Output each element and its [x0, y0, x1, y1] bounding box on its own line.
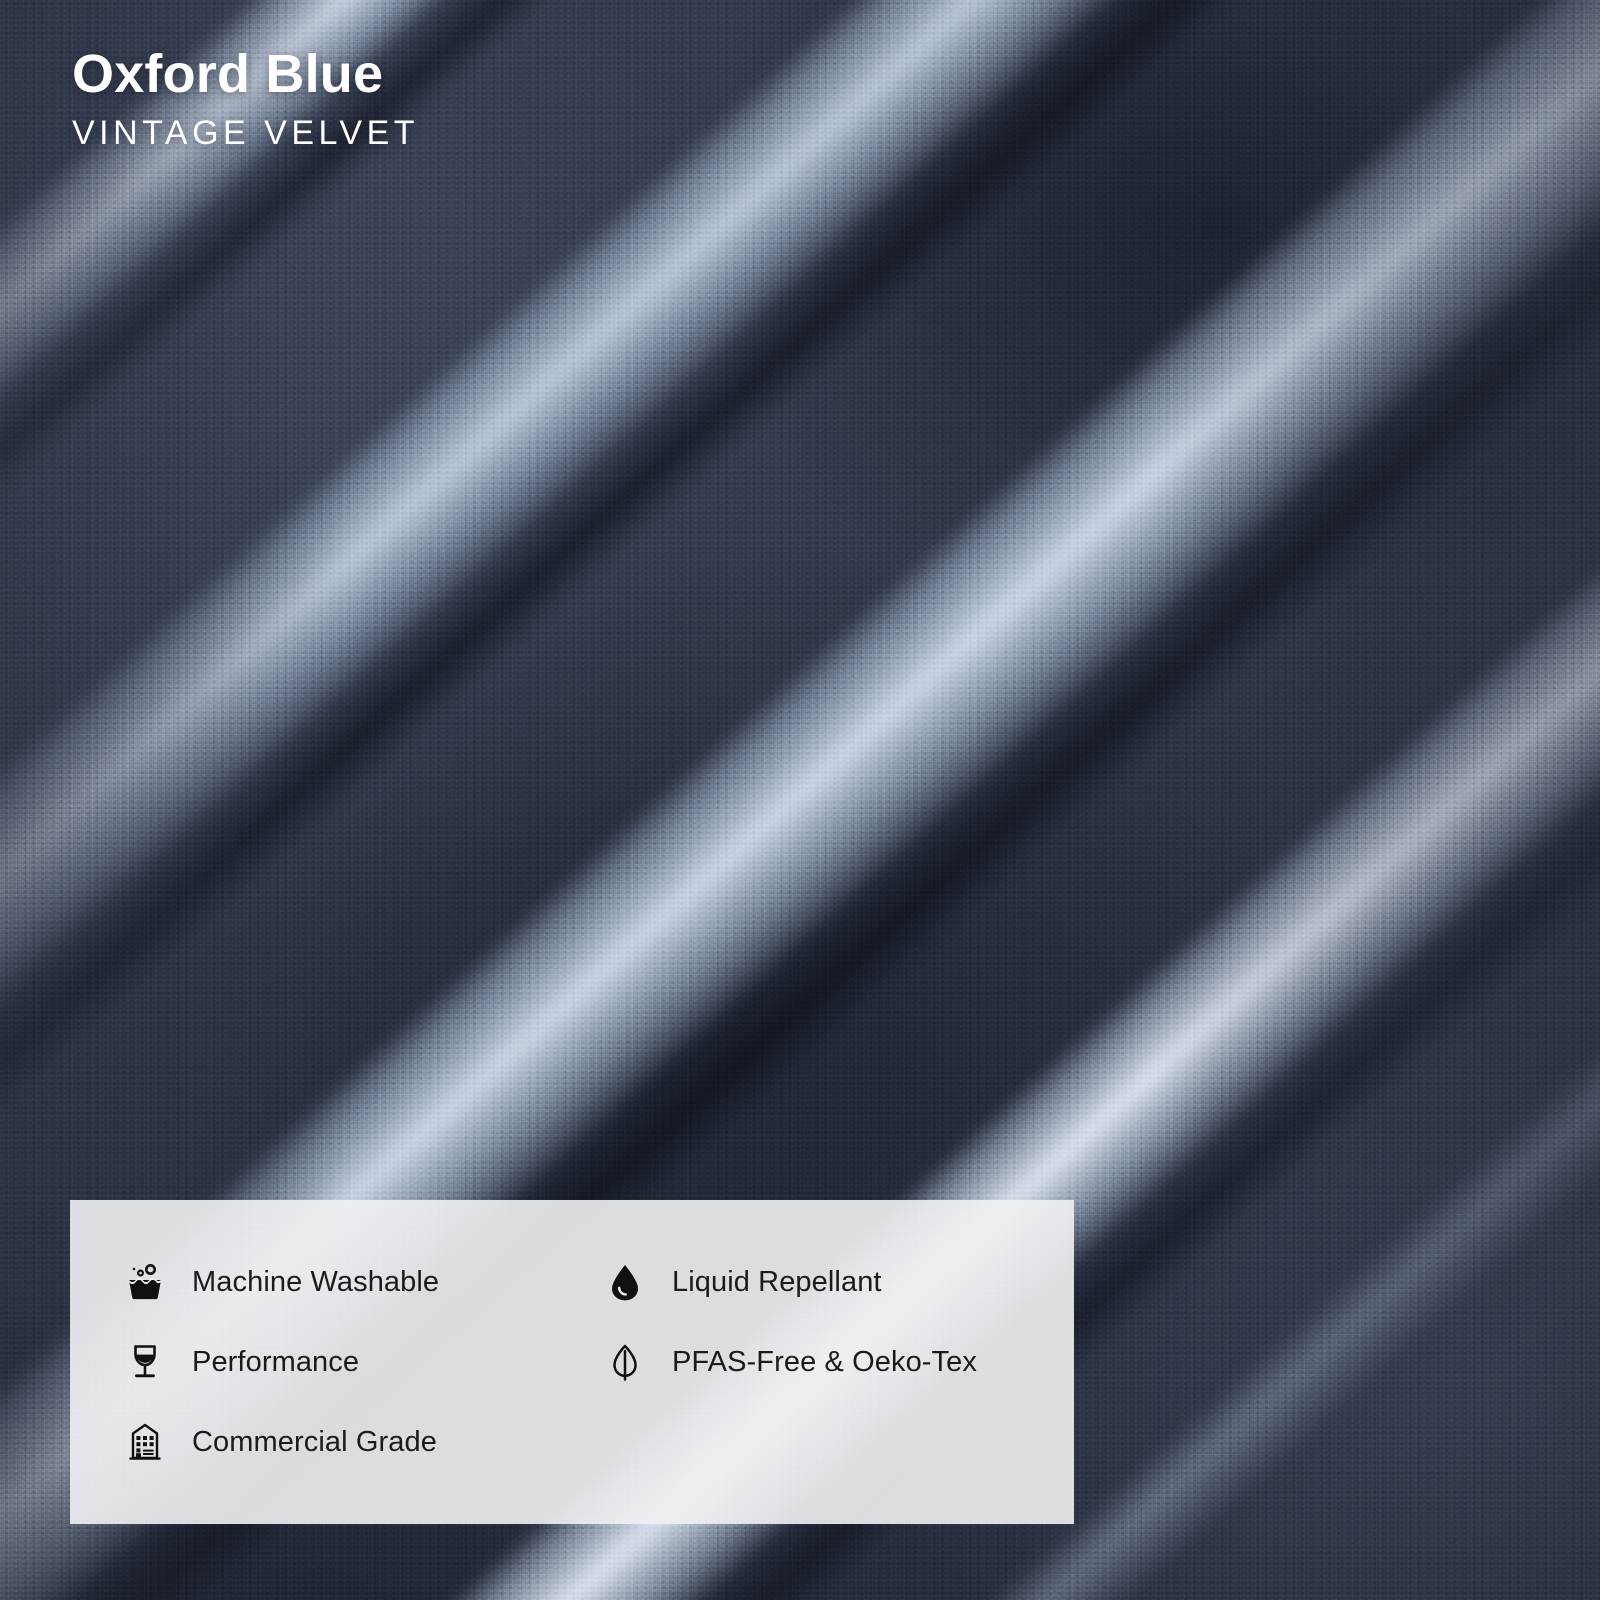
feature-pfas-free-oeko-tex: PFAS-Free & Oeko-Tex [578, 1339, 1074, 1385]
swatch-header: Oxford Blue VINTAGE VELVET [72, 46, 419, 152]
feature-commercial-grade: Commercial Grade [70, 1419, 578, 1465]
feature-label: Liquid Repellant [672, 1266, 882, 1299]
feature-label: Performance [192, 1346, 359, 1379]
color-name-title: Oxford Blue [72, 46, 419, 103]
feature-label: Machine Washable [192, 1266, 439, 1299]
building-icon [122, 1419, 168, 1465]
feature-liquid-repellant: Liquid Repellant [578, 1259, 1074, 1305]
feature-machine-washable: Machine Washable [70, 1259, 578, 1305]
feature-performance: Performance [70, 1339, 578, 1385]
water-droplet-icon [602, 1259, 648, 1305]
product-swatch-image: Oxford Blue VINTAGE VELVET Machine Washa… [0, 0, 1600, 1600]
washing-machine-icon [122, 1259, 168, 1305]
feature-label: Commercial Grade [192, 1426, 437, 1459]
wine-glass-icon [122, 1339, 168, 1385]
feature-grid: Machine Washable Liquid Repellant [70, 1242, 1074, 1482]
leaf-icon [602, 1339, 648, 1385]
feature-label: PFAS-Free & Oeko-Tex [672, 1346, 977, 1379]
material-subtitle: VINTAGE VELVET [72, 115, 419, 152]
feature-panel: Machine Washable Liquid Repellant [70, 1200, 1074, 1524]
